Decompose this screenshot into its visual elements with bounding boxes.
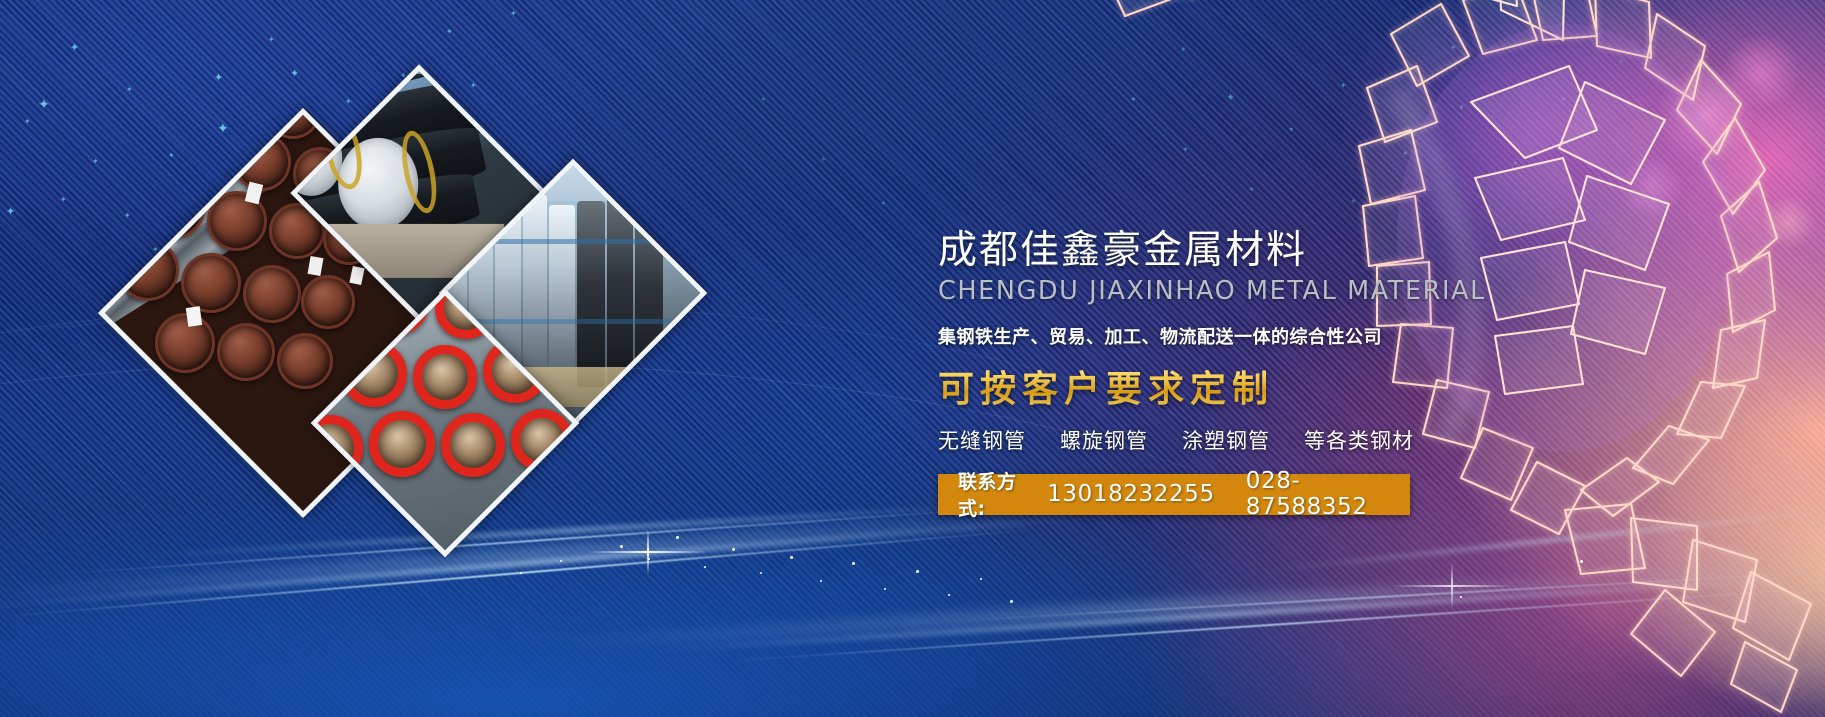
company-name-chinese: 成都佳鑫豪金属材料 (938, 230, 1558, 273)
company-name-english: CHENGDU JIAXINHAO METAL MATERIAL (938, 276, 1558, 306)
product-item-1: 无缝钢管 (938, 425, 1026, 455)
contact-label: 联系方式: (958, 467, 1038, 521)
product-item-3: 涂塑钢管 (1182, 425, 1270, 455)
product-item-2: 螺旋钢管 (1060, 425, 1148, 455)
custom-order-slogan: 可按客户要求定制 (938, 360, 1558, 412)
contact-bar[interactable]: 联系方式: 13018232255 028-87588352 (938, 474, 1410, 515)
contact-phone-mobile[interactable]: 13018232255 (1047, 481, 1215, 507)
product-photo-collage (140, 110, 700, 540)
product-item-4: 等各类钢材 (1304, 425, 1414, 455)
promotional-banner: ✦ ✦ ✦ ✦ ✦ ✦ ✦ ✦ ✦ ✦ ✦ ✦ ✦ ✦ ✦ ✦ ✦ ✦ ✦ ✦ … (0, 0, 1825, 717)
company-tagline: 集钢铁生产、贸易、加工、物流配送一体的综合性公司 (938, 323, 1558, 349)
contact-phone-landline[interactable]: 028-87588352 (1246, 468, 1410, 520)
product-list: 无缝钢管 螺旋钢管 涂塑钢管 等各类钢材 (938, 425, 1558, 455)
company-info-block: 成都佳鑫豪金属材料 CHENGDU JIAXINHAO METAL MATERI… (938, 230, 1558, 515)
